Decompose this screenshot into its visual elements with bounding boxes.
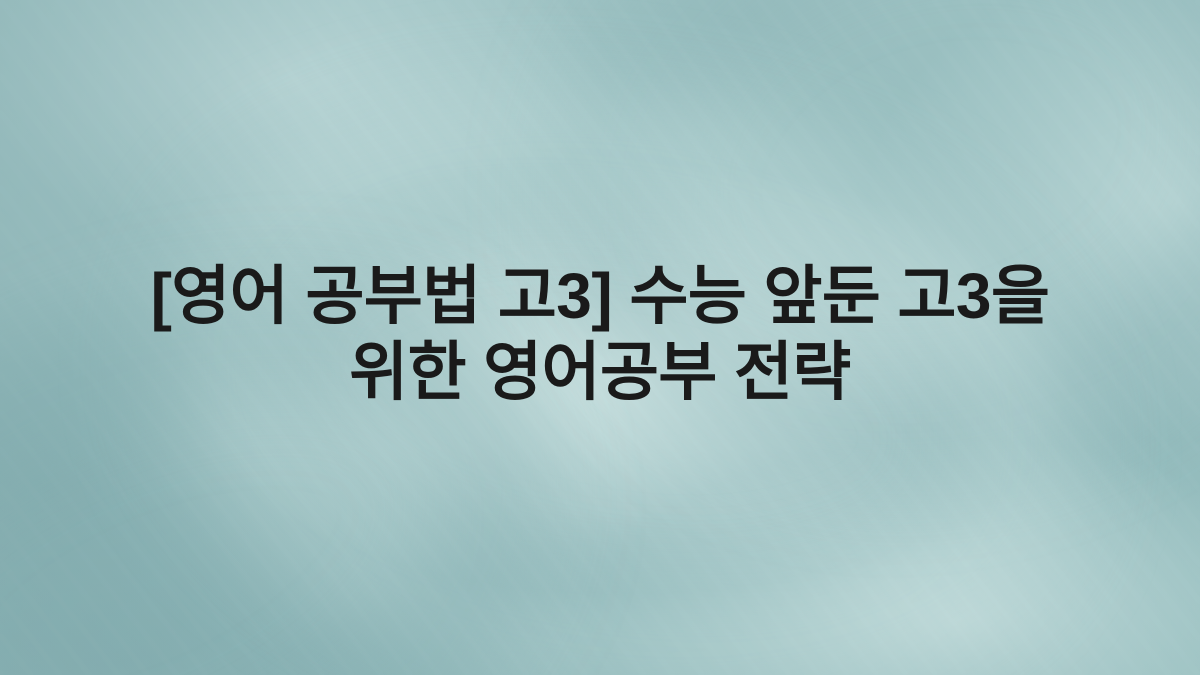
title-line-1: [영어 공부법 고3] 수능 앞둔 고3을 [60,258,1140,334]
title-line-2: 위한 영어공부 전략 [60,334,1140,410]
thumbnail-canvas: [영어 공부법 고3] 수능 앞둔 고3을 위한 영어공부 전략 [0,0,1200,675]
page-title: [영어 공부법 고3] 수능 앞둔 고3을 위한 영어공부 전략 [0,258,1200,410]
